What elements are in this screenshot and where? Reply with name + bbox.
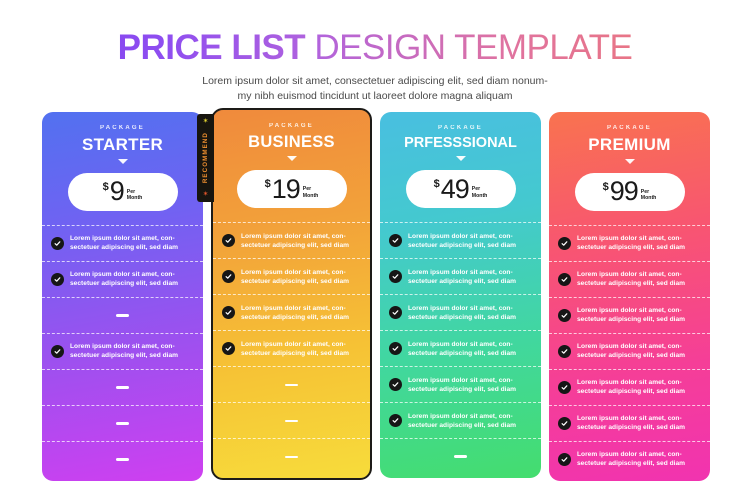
check-icon: [51, 345, 64, 358]
feature-text: Lorem ipsum dolor sit amet, con-sectetue…: [241, 340, 349, 358]
feature-text-line1: Lorem ipsum dolor sit amet, con-: [408, 233, 513, 240]
recommend-ribbon: ✶RECOMMEND✶: [197, 114, 214, 202]
pricing-card-premium[interactable]: PACKAGEPREMIUM$99PerMonthLorem ipsum dol…: [549, 112, 710, 481]
feature-text-line1: Lorem ipsum dolor sit amet, con-: [408, 341, 513, 348]
feature-text-line1: Lorem ipsum dolor sit amet, con-: [70, 235, 175, 242]
price-currency: $: [434, 178, 440, 190]
card-body-starter: PACKAGESTARTER$9PerMonthLorem ipsum dolo…: [42, 112, 203, 481]
feature-text: Lorem ipsum dolor sit amet, con-sectetue…: [408, 232, 516, 250]
feature-text-line1: Lorem ipsum dolor sit amet, con-: [408, 377, 513, 384]
feature-text-line1: Lorem ipsum dolor sit amet, con-: [241, 269, 346, 276]
price-period-line2: Month: [127, 195, 143, 201]
feature-row: Lorem ipsum dolor sit amet, con-sectetue…: [42, 333, 203, 369]
feature-text-line2: sectetuer adipiscing elit, sed diam: [577, 352, 685, 359]
feature-text-line1: Lorem ipsum dolor sit amet, con-: [241, 233, 346, 240]
package-label: PACKAGE: [390, 125, 531, 131]
check-icon: [222, 270, 235, 283]
price-period-line1: Per: [641, 189, 649, 195]
dash-icon: [116, 386, 129, 389]
check-icon: [558, 237, 571, 250]
feature-text: Lorem ipsum dolor sit amet, con-sectetue…: [408, 376, 516, 394]
check-icon: [51, 273, 64, 286]
recommend-label: RECOMMEND: [202, 132, 209, 183]
feature-text-line2: sectetuer adipiscing elit, sed diam: [408, 386, 516, 393]
card-header-business: PACKAGEBUSINESS$19PerMonth: [213, 110, 370, 222]
feature-text: Lorem ipsum dolor sit amet, con-sectetue…: [408, 304, 516, 322]
feature-row: Lorem ipsum dolor sit amet, con-sectetue…: [549, 225, 710, 261]
feature-text-line2: sectetuer adipiscing elit, sed diam: [241, 242, 349, 249]
check-icon: [222, 342, 235, 355]
feature-text: Lorem ipsum dolor sit amet, con-sectetue…: [577, 234, 685, 252]
feature-text-line1: Lorem ipsum dolor sit amet, con-: [577, 307, 682, 314]
feature-text: Lorem ipsum dolor sit amet, con-sectetue…: [577, 414, 685, 432]
feature-row: Lorem ipsum dolor sit amet, con-sectetue…: [549, 405, 710, 441]
price-pill: $49PerMonth: [406, 170, 516, 208]
feature-text-line1: Lorem ipsum dolor sit amet, con-: [577, 379, 682, 386]
price-pill: $9PerMonth: [68, 173, 178, 211]
feature-text: Lorem ipsum dolor sit amet, con-sectetue…: [70, 270, 178, 288]
feature-row-empty: [213, 366, 370, 402]
feature-text-line1: Lorem ipsum dolor sit amet, con-: [408, 305, 513, 312]
feature-row: Lorem ipsum dolor sit amet, con-sectetue…: [549, 261, 710, 297]
feature-text: Lorem ipsum dolor sit amet, con-sectetue…: [70, 342, 178, 360]
feature-text-line2: sectetuer adipiscing elit, sed diam: [408, 278, 516, 285]
feature-row-empty: [213, 438, 370, 474]
package-label: PACKAGE: [52, 125, 193, 131]
plan-name: BUSINESS: [223, 134, 360, 151]
pricing-cards: PACKAGESTARTER$9PerMonthLorem ipsum dolo…: [42, 112, 710, 481]
price-period-line2: Month: [303, 193, 319, 199]
check-icon: [222, 234, 235, 247]
check-icon: [389, 414, 402, 427]
card-body-business: PACKAGEBUSINESS$19PerMonthLorem ipsum do…: [211, 108, 372, 480]
feature-text-line2: sectetuer adipiscing elit, sed diam: [241, 314, 349, 321]
feature-text-line1: Lorem ipsum dolor sit amet, con-: [408, 269, 513, 276]
dash-icon: [285, 420, 298, 423]
price-period-line1: Per: [127, 189, 135, 195]
price-currency: $: [265, 178, 271, 190]
check-icon: [389, 270, 402, 283]
chevron-down-icon: [118, 159, 128, 164]
check-icon: [389, 342, 402, 355]
page-subtitle-line1: Lorem ipsum dolor sit amet, consectetuer…: [0, 74, 750, 89]
feature-text-line2: sectetuer adipiscing elit, sed diam: [70, 352, 178, 359]
price-amount: 49: [441, 176, 469, 203]
feature-text-line2: sectetuer adipiscing elit, sed diam: [577, 244, 685, 251]
feature-row: Lorem ipsum dolor sit amet, con-sectetue…: [549, 441, 710, 477]
feature-row-empty: [42, 405, 203, 441]
feature-text: Lorem ipsum dolor sit amet, con-sectetue…: [577, 342, 685, 360]
dash-icon: [285, 384, 298, 387]
feature-text: Lorem ipsum dolor sit amet, con-sectetue…: [577, 306, 685, 324]
feature-row: Lorem ipsum dolor sit amet, con-sectetue…: [213, 222, 370, 258]
pricing-card-professional[interactable]: PACKAGEPRFESSSIONAL$49PerMonthLorem ipsu…: [380, 112, 541, 478]
feature-row: Lorem ipsum dolor sit amet, con-sectetue…: [42, 225, 203, 261]
feature-row: Lorem ipsum dolor sit amet, con-sectetue…: [380, 366, 541, 402]
check-icon: [389, 306, 402, 319]
price-currency: $: [103, 181, 109, 193]
chevron-down-icon: [625, 159, 635, 164]
check-icon: [558, 309, 571, 322]
card-header-professional: PACKAGEPRFESSSIONAL$49PerMonth: [380, 112, 541, 222]
price-amount: 99: [610, 178, 638, 205]
check-icon: [558, 273, 571, 286]
feature-text: Lorem ipsum dolor sit amet, con-sectetue…: [241, 304, 349, 322]
feature-text-line1: Lorem ipsum dolor sit amet, con-: [241, 305, 346, 312]
check-icon: [558, 381, 571, 394]
price-amount: 9: [110, 178, 124, 205]
feature-text: Lorem ipsum dolor sit amet, con-sectetue…: [577, 450, 685, 468]
feature-text-line2: sectetuer adipiscing elit, sed diam: [408, 242, 516, 249]
dash-icon: [454, 455, 467, 458]
feature-row-empty: [380, 438, 541, 474]
pricing-card-business[interactable]: ✶RECOMMEND✶PACKAGEBUSINESS$19PerMonthLor…: [211, 108, 372, 480]
feature-row: Lorem ipsum dolor sit amet, con-sectetue…: [549, 333, 710, 369]
feature-text: Lorem ipsum dolor sit amet, con-sectetue…: [408, 268, 516, 286]
feature-text: Lorem ipsum dolor sit amet, con-sectetue…: [577, 378, 685, 396]
page-title: PRICE LIST DESIGN TEMPLATE: [0, 30, 750, 65]
feature-row: Lorem ipsum dolor sit amet, con-sectetue…: [380, 402, 541, 438]
feature-text-line2: sectetuer adipiscing elit, sed diam: [577, 280, 685, 287]
price-pill: $99PerMonth: [575, 173, 685, 211]
feature-text: Lorem ipsum dolor sit amet, con-sectetue…: [408, 412, 516, 430]
feature-text-line2: sectetuer adipiscing elit, sed diam: [577, 424, 685, 431]
check-icon: [389, 234, 402, 247]
price-period-line1: Per: [303, 186, 311, 192]
price-period: PerMonth: [472, 186, 488, 199]
feature-text: Lorem ipsum dolor sit amet, con-sectetue…: [577, 270, 685, 288]
feature-row: Lorem ipsum dolor sit amet, con-sectetue…: [380, 222, 541, 258]
feature-row: Lorem ipsum dolor sit amet, con-sectetue…: [380, 330, 541, 366]
feature-row: Lorem ipsum dolor sit amet, con-sectetue…: [213, 294, 370, 330]
card-body-premium: PACKAGEPREMIUM$99PerMonthLorem ipsum dol…: [549, 112, 710, 481]
feature-row: Lorem ipsum dolor sit amet, con-sectetue…: [549, 369, 710, 405]
price-amount: 19: [272, 176, 300, 203]
feature-list-starter: Lorem ipsum dolor sit amet, con-sectetue…: [42, 225, 203, 481]
feature-row-empty: [42, 369, 203, 405]
price-period: PerMonth: [641, 189, 657, 202]
feature-text-line1: Lorem ipsum dolor sit amet, con-: [577, 235, 682, 242]
feature-text-line1: Lorem ipsum dolor sit amet, con-: [577, 271, 682, 278]
feature-text-line2: sectetuer adipiscing elit, sed diam: [241, 350, 349, 357]
price-period: PerMonth: [303, 186, 319, 199]
feature-row: Lorem ipsum dolor sit amet, con-sectetue…: [213, 330, 370, 366]
check-icon: [558, 345, 571, 358]
price-period-line1: Per: [472, 186, 480, 192]
chevron-down-icon: [287, 156, 297, 161]
feature-list-professional: Lorem ipsum dolor sit amet, con-sectetue…: [380, 222, 541, 478]
plan-name: PRFESSSIONAL: [390, 136, 531, 151]
feature-row: Lorem ipsum dolor sit amet, con-sectetue…: [549, 297, 710, 333]
check-icon: [558, 453, 571, 466]
feature-text-line1: Lorem ipsum dolor sit amet, con-: [408, 413, 513, 420]
feature-text-line2: sectetuer adipiscing elit, sed diam: [577, 460, 685, 467]
feature-row-empty: [213, 402, 370, 438]
page-title-light: DESIGN TEMPLATE: [314, 28, 632, 67]
card-body-professional: PACKAGEPRFESSSIONAL$49PerMonthLorem ipsu…: [380, 112, 541, 478]
dash-icon: [116, 422, 129, 425]
page-title-bold: PRICE LIST: [118, 28, 315, 67]
feature-text: Lorem ipsum dolor sit amet, con-sectetue…: [408, 340, 516, 358]
plan-name: STARTER: [52, 136, 193, 154]
feature-text-line1: Lorem ipsum dolor sit amet, con-: [70, 343, 175, 350]
feature-text-line2: sectetuer adipiscing elit, sed diam: [577, 316, 685, 323]
price-currency: $: [603, 181, 609, 193]
price-pill: $19PerMonth: [237, 170, 347, 208]
star-icon-bottom: ✶: [203, 191, 209, 198]
feature-list-business: Lorem ipsum dolor sit amet, con-sectetue…: [213, 222, 370, 478]
check-icon: [51, 237, 64, 250]
check-icon: [558, 417, 571, 430]
feature-text-line1: Lorem ipsum dolor sit amet, con-: [241, 341, 346, 348]
dash-icon: [285, 456, 298, 459]
dash-icon: [116, 458, 129, 461]
card-header-starter: PACKAGESTARTER$9PerMonth: [42, 112, 203, 225]
pricing-page: PRICE LIST DESIGN TEMPLATE Lorem ipsum d…: [0, 0, 750, 500]
page-header: PRICE LIST DESIGN TEMPLATE Lorem ipsum d…: [0, 0, 750, 104]
feature-row: Lorem ipsum dolor sit amet, con-sectetue…: [213, 258, 370, 294]
dash-icon: [116, 314, 129, 317]
price-period: PerMonth: [127, 189, 143, 202]
package-label: PACKAGE: [559, 125, 700, 131]
price-period-line2: Month: [472, 193, 488, 199]
feature-text-line2: sectetuer adipiscing elit, sed diam: [408, 422, 516, 429]
check-icon: [389, 378, 402, 391]
feature-row-empty: [42, 297, 203, 333]
feature-text-line2: sectetuer adipiscing elit, sed diam: [241, 278, 349, 285]
feature-list-premium: Lorem ipsum dolor sit amet, con-sectetue…: [549, 225, 710, 481]
feature-text-line1: Lorem ipsum dolor sit amet, con-: [70, 271, 175, 278]
chevron-down-icon: [456, 156, 466, 161]
feature-text-line2: sectetuer adipiscing elit, sed diam: [70, 280, 178, 287]
check-icon: [222, 306, 235, 319]
page-subtitle-line2: my nibh euismod tincidunt ut laoreet dol…: [0, 89, 750, 104]
feature-text-line2: sectetuer adipiscing elit, sed diam: [70, 244, 178, 251]
feature-text: Lorem ipsum dolor sit amet, con-sectetue…: [241, 232, 349, 250]
pricing-card-starter[interactable]: PACKAGESTARTER$9PerMonthLorem ipsum dolo…: [42, 112, 203, 481]
page-subtitle: Lorem ipsum dolor sit amet, consectetuer…: [0, 74, 750, 104]
feature-text: Lorem ipsum dolor sit amet, con-sectetue…: [70, 234, 178, 252]
feature-row: Lorem ipsum dolor sit amet, con-sectetue…: [380, 294, 541, 330]
feature-text-line1: Lorem ipsum dolor sit amet, con-: [577, 415, 682, 422]
card-header-premium: PACKAGEPREMIUM$99PerMonth: [549, 112, 710, 225]
feature-text-line2: sectetuer adipiscing elit, sed diam: [577, 388, 685, 395]
feature-text-line2: sectetuer adipiscing elit, sed diam: [408, 350, 516, 357]
feature-row-empty: [42, 441, 203, 477]
feature-text: Lorem ipsum dolor sit amet, con-sectetue…: [241, 268, 349, 286]
feature-text-line2: sectetuer adipiscing elit, sed diam: [408, 314, 516, 321]
star-icon-top: ✶: [203, 118, 209, 125]
feature-text-line1: Lorem ipsum dolor sit amet, con-: [577, 343, 682, 350]
feature-row: Lorem ipsum dolor sit amet, con-sectetue…: [42, 261, 203, 297]
price-period-line2: Month: [641, 195, 657, 201]
feature-row: Lorem ipsum dolor sit amet, con-sectetue…: [380, 258, 541, 294]
plan-name: PREMIUM: [559, 136, 700, 154]
package-label: PACKAGE: [223, 123, 360, 129]
feature-text-line1: Lorem ipsum dolor sit amet, con-: [577, 451, 682, 458]
